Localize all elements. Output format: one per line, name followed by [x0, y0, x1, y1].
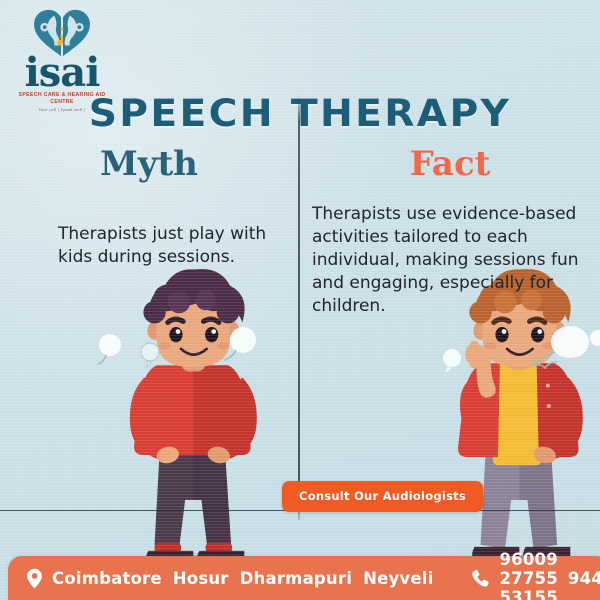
footer-city: Neyveli	[363, 569, 433, 588]
footer-city: Dharmapuri	[240, 569, 352, 588]
myth-speech-bubbles	[98, 327, 256, 368]
footer-phones[interactable]: 96009 2775594430 53155	[499, 550, 600, 600]
page-title: SPEECH THERAPY	[0, 92, 600, 135]
fact-heading: Fact	[300, 145, 600, 183]
footer-city: Coimbatore	[52, 569, 162, 588]
poster-canvas: isai SPEECH CARE & HEARING AID CENTRE Yo…	[0, 0, 600, 600]
footer-cities: CoimbatoreHosurDharmapuriNeyveli	[52, 569, 444, 588]
myth-body-text: Therapists just play with kids during se…	[58, 223, 273, 269]
consult-audiologists-button[interactable]: Consult Our Audiologists	[282, 481, 483, 512]
myth-character	[130, 269, 257, 571]
fact-column: Fact Therapists use evidence-based activ…	[300, 145, 600, 318]
footer-phone[interactable]: 96009 27755	[499, 550, 557, 588]
myth-heading: Myth	[0, 145, 298, 183]
phone-icon	[471, 569, 490, 588]
myth-column: Myth Therapists just play with kids duri…	[0, 145, 298, 269]
fact-body-text: Therapists use evidence-based activities…	[312, 203, 600, 318]
fact-speech-bubbles	[443, 326, 600, 373]
map-pin-icon	[26, 568, 43, 589]
footer-city: Hosur	[173, 569, 229, 588]
logo-wordmark: isai	[8, 56, 116, 90]
contact-footer-bar: CoimbatoreHosurDharmapuriNeyveli 96009 2…	[8, 556, 600, 600]
